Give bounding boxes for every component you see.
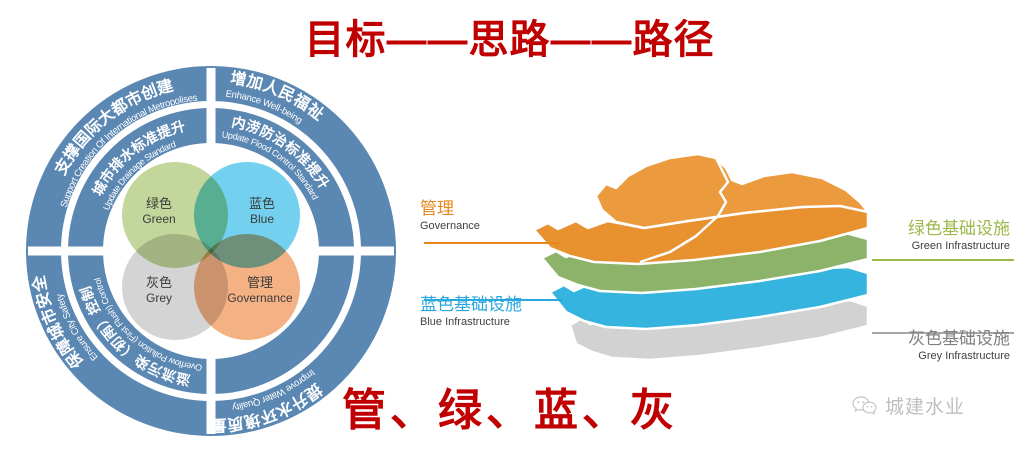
venn-label-governance: 管理 Governance <box>214 275 306 306</box>
watermark: 城建水业 <box>852 392 965 419</box>
callout-governance: 管理 Governance <box>420 198 560 234</box>
venn-label-blue-en: Blue <box>227 212 297 227</box>
venn-label-governance-cn: 管理 <box>214 275 306 291</box>
venn-label-grey-cn: 灰色 <box>124 275 194 291</box>
venn-label-blue: 蓝色 Blue <box>227 196 297 227</box>
callout-governance-en: Governance <box>420 219 560 233</box>
callout-green: 绿色基础设施 Green Infrastructure <box>880 218 1010 254</box>
callout-green-cn: 绿色基础设施 <box>880 218 1010 239</box>
callout-green-en: Green Infrastructure <box>880 239 1010 253</box>
callout-blue-en: Blue Infrastructure <box>420 315 565 329</box>
venn-label-governance-en: Governance <box>214 291 306 306</box>
venn-label-blue-cn: 蓝色 <box>227 196 297 212</box>
venn-label-grey-en: Grey <box>124 291 194 306</box>
callout-blue-cn: 蓝色基础设施 <box>420 294 565 315</box>
callout-grey-en: Grey Infrastructure <box>880 349 1010 363</box>
callout-grey: 灰色基础设施 Grey Infrastructure <box>880 328 1010 364</box>
watermark-text: 城建水业 <box>885 392 965 419</box>
venn-label-grey: 灰色 Grey <box>124 275 194 306</box>
venn-label-green: 绿色 Green <box>124 196 194 227</box>
callout-blue: 蓝色基础设施 Blue Infrastructure <box>420 294 565 330</box>
venn-label-green-en: Green <box>124 212 194 227</box>
callout-grey-cn: 灰色基础设施 <box>880 328 1010 349</box>
venn-label-green-cn: 绿色 <box>124 196 194 212</box>
callout-governance-cn: 管理 <box>420 198 560 219</box>
wechat-icon <box>852 395 878 417</box>
bottom-title: 管、绿、蓝、灰 <box>250 388 770 434</box>
slide-canvas: 目标——思路——路径 <box>0 0 1019 453</box>
